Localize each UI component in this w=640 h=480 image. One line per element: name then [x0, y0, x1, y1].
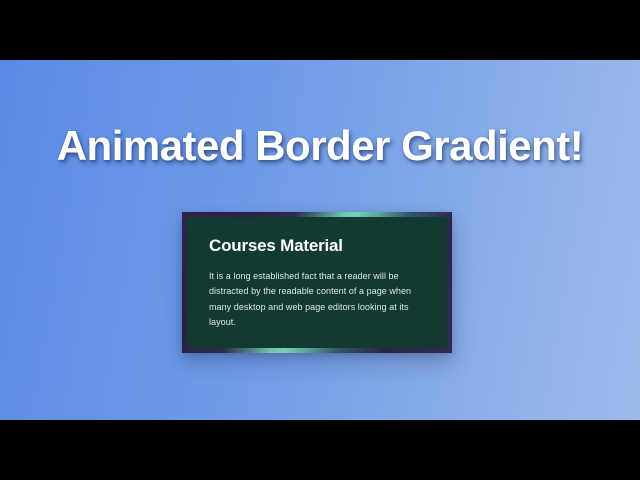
page-title: Animated Border Gradient! — [0, 124, 640, 168]
courses-material-card[interactable]: Courses Material It is a long establishe… — [187, 217, 447, 348]
card-title: Courses Material — [209, 237, 425, 256]
letterbox-bar-bottom — [0, 420, 640, 480]
presentation-stage: Animated Border Gradient! Courses Materi… — [0, 60, 640, 420]
card-body-text: It is a long established fact that a rea… — [209, 269, 415, 331]
gradient-border-frame: Courses Material It is a long establishe… — [182, 212, 452, 353]
screenshot-viewport: Animated Border Gradient! Courses Materi… — [0, 0, 640, 480]
letterbox-bar-top — [0, 0, 640, 60]
